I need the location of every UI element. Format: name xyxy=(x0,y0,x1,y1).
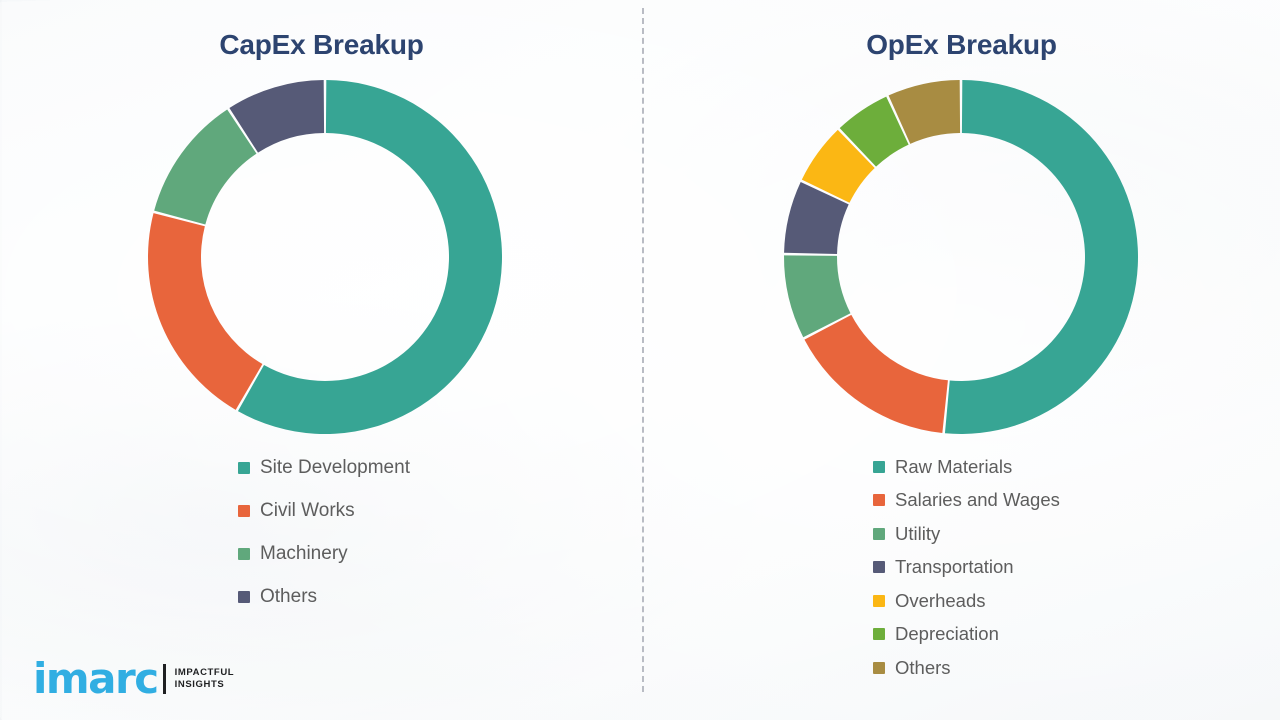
legend-swatch-icon xyxy=(873,662,885,674)
tagline-line-2: INSIGHTS xyxy=(175,679,235,691)
legend-item-label: Depreciation xyxy=(895,625,999,644)
legend-item-overheads[interactable]: Overheads xyxy=(873,586,1060,616)
imarc-wordmark: imarc xyxy=(33,660,158,698)
donut-slice[interactable] xyxy=(148,213,262,410)
legend-swatch-icon xyxy=(873,628,885,640)
capex-chart-title: CapEx Breakup xyxy=(0,29,643,61)
legend-swatch-icon xyxy=(238,462,250,474)
legend-item-others[interactable]: Others xyxy=(238,577,410,616)
legend-swatch-icon xyxy=(238,548,250,560)
legend-item-raw-materials[interactable]: Raw Materials xyxy=(873,452,1060,482)
legend-swatch-icon xyxy=(238,505,250,517)
capex-panel: CapEx Breakup Site Development Civil Wor… xyxy=(0,0,643,720)
legend-item-label: Others xyxy=(895,659,951,678)
legend-item-label: Overheads xyxy=(895,592,986,611)
legend-swatch-icon xyxy=(873,494,885,506)
legend-item-label: Civil Works xyxy=(260,501,355,520)
legend-item-label: Site Development xyxy=(260,458,410,477)
legend-item-label: Raw Materials xyxy=(895,458,1012,477)
legend-item-civil-works[interactable]: Civil Works xyxy=(238,491,410,530)
opex-chart-title: OpEx Breakup xyxy=(643,29,1280,61)
opex-legend: Raw Materials Salaries and Wages Utility… xyxy=(873,452,1060,687)
donut-slice[interactable] xyxy=(804,315,947,433)
legend-item-site-development[interactable]: Site Development xyxy=(238,448,410,487)
legend-swatch-icon xyxy=(873,595,885,607)
slide-canvas: CapEx Breakup Site Development Civil Wor… xyxy=(0,0,1280,720)
opex-donut-chart xyxy=(782,78,1140,436)
donut-slice[interactable] xyxy=(154,109,256,224)
legend-swatch-icon xyxy=(873,528,885,540)
legend-item-depreciation[interactable]: Depreciation xyxy=(873,620,1060,650)
capex-donut-chart xyxy=(146,78,504,436)
legend-item-utility[interactable]: Utility xyxy=(873,519,1060,549)
legend-item-salaries-and-wages[interactable]: Salaries and Wages xyxy=(873,486,1060,516)
capex-legend: Site Development Civil Works Machinery O… xyxy=(238,448,410,620)
donut-slice[interactable] xyxy=(945,80,1138,434)
capex-donut-svg xyxy=(146,78,504,436)
legend-item-machinery[interactable]: Machinery xyxy=(238,534,410,573)
legend-item-others[interactable]: Others xyxy=(873,653,1060,683)
imarc-tagline: IMPACTFUL INSIGHTS xyxy=(175,667,235,691)
legend-swatch-icon xyxy=(873,561,885,573)
tagline-line-1: IMPACTFUL xyxy=(175,667,235,679)
legend-item-label: Others xyxy=(260,587,317,606)
legend-item-label: Machinery xyxy=(260,544,348,563)
imarc-logo: imarc IMPACTFUL INSIGHTS xyxy=(33,660,234,698)
logo-divider-bar xyxy=(163,664,166,694)
legend-swatch-icon xyxy=(873,461,885,473)
legend-item-label: Utility xyxy=(895,525,940,544)
legend-item-label: Transportation xyxy=(895,558,1014,577)
legend-item-label: Salaries and Wages xyxy=(895,491,1060,510)
legend-swatch-icon xyxy=(238,591,250,603)
legend-item-transportation[interactable]: Transportation xyxy=(873,553,1060,583)
opex-donut-svg xyxy=(782,78,1140,436)
